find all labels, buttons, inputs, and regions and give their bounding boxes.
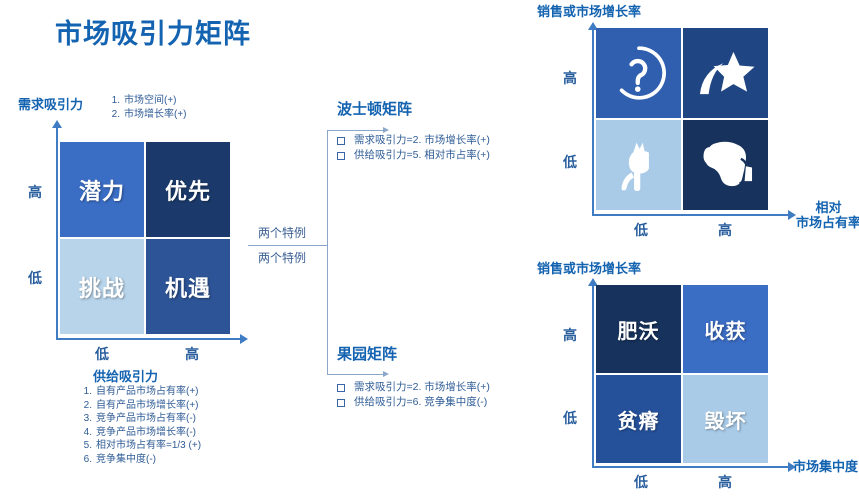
- left-matrix-cell-label: 机遇: [165, 271, 211, 303]
- supply-attractiveness-title: 供给吸引力: [93, 366, 158, 385]
- bcg-matrix-x-axis-arrow: [788, 210, 796, 220]
- connector-label-bottom: 两个特例: [258, 249, 306, 266]
- list-item: 2. 自有产品市场增长率(+): [80, 399, 201, 413]
- left-matrix-y-tick-high: 高: [28, 182, 42, 202]
- orchard-matrix-cell-ruin[interactable]: 毁坏: [683, 375, 768, 463]
- bcg-matrix-x-tick-high: 高: [718, 220, 732, 240]
- bcg-matrix-x-axis-title-line1: 相对: [796, 201, 859, 216]
- list-item-number: 5.: [80, 439, 92, 453]
- left-matrix-x-tick-low: 低: [95, 344, 109, 364]
- left-matrix-cell-challenge[interactable]: 挑战: [60, 239, 144, 334]
- list-item: 3. 竞争产品市场占有率(-): [80, 412, 201, 426]
- orchard-matrix-cell-label: 肥沃: [618, 315, 660, 344]
- left-matrix-x-axis-line: [56, 338, 242, 340]
- bcg-branch-list: 需求吸引力=2. 市场增长率(+) 供给吸引力=5. 相对市占率(+): [337, 133, 490, 163]
- orchard-matrix-y-tick-low: 低: [563, 408, 577, 428]
- list-item-text: 竞争产品市场增长率(-): [96, 426, 196, 440]
- bcg-matrix-cell-star[interactable]: [683, 28, 768, 118]
- left-matrix-y-tick-low: 低: [28, 268, 42, 288]
- star-icon: [695, 42, 757, 104]
- list-item: 4. 竞争产品市场增长率(-): [80, 426, 201, 440]
- connector-spine-lower: [327, 358, 328, 375]
- bcg-matrix-x-tick-low: 低: [634, 220, 648, 240]
- list-item-number: 1.: [80, 385, 92, 399]
- orchard-branch-list: 需求吸引力=2. 市场增长率(+) 供给吸引力=6. 竞争集中度(-): [337, 380, 490, 410]
- bcg-matrix-y-tick-low: 低: [563, 152, 577, 172]
- list-item-text: 相对市场占有率=1/3 (+): [96, 439, 201, 453]
- list-item-text: 需求吸引力=2. 市场增长率(+): [354, 133, 490, 148]
- list-item: 1. 自有产品市场占有率(+): [80, 385, 201, 399]
- connector-branch-orchard-arrow: [383, 371, 389, 377]
- orchard-branch-heading: 果园矩阵: [337, 343, 397, 364]
- left-matrix-x-axis-arrow: [240, 334, 248, 344]
- connector-spine: [327, 130, 328, 360]
- orchard-matrix-x-tick-high: 高: [718, 472, 732, 492]
- orchard-matrix-y-axis-line: [592, 286, 594, 468]
- orchard-matrix-x-tick-low: 低: [634, 472, 648, 492]
- list-item-text: 市场增长率(+): [124, 108, 187, 122]
- list-item-number: 3.: [80, 412, 92, 426]
- connector-label-top: 两个特例: [258, 224, 306, 241]
- left-matrix-cell-label: 挑战: [79, 271, 125, 303]
- left-matrix-grid: 潜力 优先 挑战 机遇: [60, 142, 230, 336]
- page-title: 市场吸引力矩阵: [55, 12, 251, 51]
- list-item-number: 2.: [108, 108, 120, 122]
- left-matrix-y-axis-arrow: [52, 120, 62, 128]
- bullet-square-icon: [337, 152, 345, 160]
- list-item: 供给吸引力=6. 竞争集中度(-): [337, 395, 490, 410]
- left-matrix-cell-opportunity[interactable]: 机遇: [146, 239, 230, 334]
- bullet-square-icon: [337, 399, 345, 407]
- dog-icon: [608, 134, 670, 196]
- supply-attractiveness-list: 1. 自有产品市场占有率(+) 2. 自有产品市场增长率(+) 3. 竞争产品市…: [80, 385, 201, 466]
- bcg-matrix-x-axis-title-line2: 市场占有率: [796, 216, 859, 231]
- bcg-matrix-x-axis-line: [592, 214, 790, 216]
- left-matrix-y-axis-line: [56, 128, 58, 340]
- bcg-branch-heading: 波士顿矩阵: [337, 98, 412, 119]
- list-item-text: 竞争产品市场占有率(-): [96, 412, 196, 426]
- list-item-text: 自有产品市场占有率(+): [96, 385, 199, 399]
- left-matrix-cell-potential[interactable]: 潜力: [60, 142, 144, 237]
- left-matrix-cell-label: 优先: [165, 174, 211, 206]
- orchard-matrix-cell-label: 贫瘠: [618, 405, 660, 434]
- bcg-matrix-grid: [596, 28, 768, 212]
- orchard-matrix-cell-barren[interactable]: 贫瘠: [596, 375, 681, 463]
- left-matrix-cell-priority[interactable]: 优先: [146, 142, 230, 237]
- list-item-text: 竞争集中度(-): [96, 453, 156, 467]
- list-item: 需求吸引力=2. 市场增长率(+): [337, 380, 490, 395]
- connector-divider-line: [248, 245, 328, 246]
- question-mark-icon: [608, 42, 670, 104]
- list-item-number: 2.: [80, 399, 92, 413]
- bcg-matrix-y-axis-title: 销售或市场增长率: [537, 5, 641, 20]
- list-item-number: 4.: [80, 426, 92, 440]
- list-item-text: 市场空间(+): [124, 94, 177, 108]
- connector-branch-orchard: [327, 374, 385, 375]
- orchard-matrix-cell-harvest[interactable]: 收获: [683, 285, 768, 373]
- orchard-matrix-x-axis-line: [592, 466, 790, 468]
- list-item: 1. 市场空间(+): [108, 94, 187, 108]
- list-item-text: 供给吸引力=5. 相对市占率(+): [354, 148, 490, 163]
- list-item: 5. 相对市场占有率=1/3 (+): [80, 439, 201, 453]
- bcg-matrix-cell-dog[interactable]: [596, 120, 681, 210]
- list-item: 6. 竞争集中度(-): [80, 453, 201, 467]
- list-item-number: 6.: [80, 453, 92, 467]
- orchard-matrix-x-axis-title: 市场集中度: [793, 460, 858, 475]
- orchard-matrix-grid: 肥沃 收获 贫瘠 毁坏: [596, 285, 768, 465]
- cow-icon: [695, 134, 757, 196]
- bcg-matrix-y-tick-high: 高: [563, 68, 577, 88]
- diagram-canvas: 市场吸引力矩阵 需求吸引力 1. 市场空间(+) 2. 市场增长率(+) 高 低…: [0, 0, 859, 500]
- demand-attractiveness-list: 1. 市场空间(+) 2. 市场增长率(+): [108, 94, 187, 121]
- left-matrix-y-axis-title: 需求吸引力: [18, 98, 83, 113]
- connector-branch-bcg: [327, 130, 385, 131]
- bcg-matrix-cell-cow[interactable]: [683, 120, 768, 210]
- left-matrix-x-tick-high: 高: [185, 344, 199, 364]
- orchard-matrix-y-tick-high: 高: [563, 325, 577, 345]
- list-item-text: 供给吸引力=6. 竞争集中度(-): [354, 395, 487, 410]
- connector-branch-bcg-arrow: [383, 127, 389, 133]
- bcg-matrix-cell-question-mark[interactable]: [596, 28, 681, 118]
- list-item: 需求吸引力=2. 市场增长率(+): [337, 133, 490, 148]
- list-item-text: 自有产品市场增长率(+): [96, 399, 199, 413]
- list-item-number: 1.: [108, 94, 120, 108]
- bullet-square-icon: [337, 384, 345, 392]
- bcg-matrix-x-axis-title: 相对 市场占有率: [796, 201, 859, 231]
- orchard-matrix-cell-fertile[interactable]: 肥沃: [596, 285, 681, 373]
- orchard-matrix-cell-label: 收获: [705, 315, 747, 344]
- list-item-text: 需求吸引力=2. 市场增长率(+): [354, 380, 490, 395]
- list-item: 供给吸引力=5. 相对市占率(+): [337, 148, 490, 163]
- left-matrix-cell-label: 潜力: [79, 174, 125, 206]
- orchard-matrix-y-axis-title: 销售或市场增长率: [537, 262, 641, 277]
- bullet-square-icon: [337, 137, 345, 145]
- orchard-matrix-cell-label: 毁坏: [705, 405, 747, 434]
- list-item: 2. 市场增长率(+): [108, 108, 187, 122]
- bcg-matrix-y-axis-line: [592, 30, 594, 216]
